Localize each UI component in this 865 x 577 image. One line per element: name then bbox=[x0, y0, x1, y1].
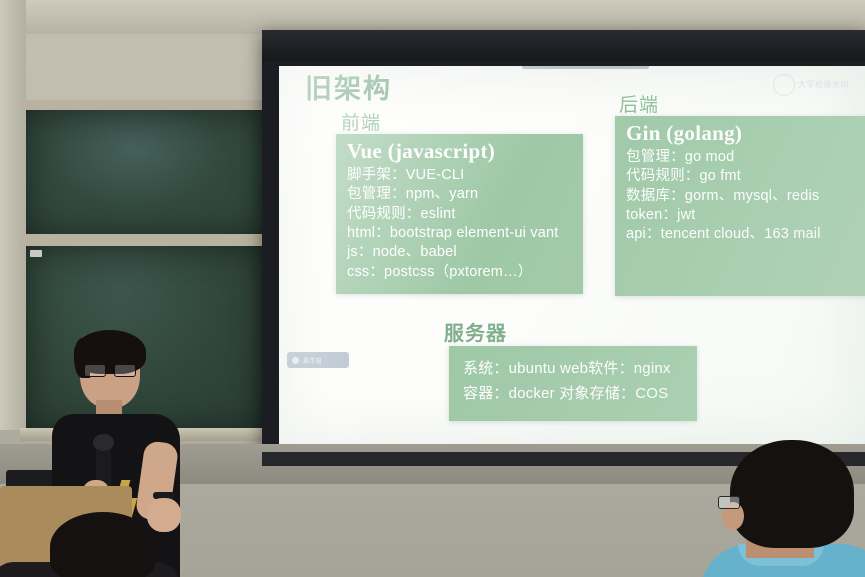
presenter-glasses bbox=[84, 364, 138, 377]
wall-top-strip bbox=[0, 0, 865, 34]
server-line: 容器：docker 对象存储：COS bbox=[449, 380, 697, 405]
frontend-box: Vue (javascript) 脚手架：VUE-CLI 包管理：npm、yar… bbox=[336, 134, 583, 294]
frontend-line: css：postcss（pxtorem…） bbox=[336, 263, 583, 282]
projector-screen-top-bar bbox=[262, 30, 865, 61]
audience-left-hair bbox=[50, 512, 156, 577]
audience-right-glasses bbox=[718, 496, 740, 509]
university-seal-icon bbox=[773, 74, 795, 96]
frontend-line: js：node、babel bbox=[336, 243, 583, 262]
frontend-line: 包管理：npm、yarn bbox=[336, 185, 583, 204]
glasses-bridge bbox=[106, 369, 114, 371]
floating-widget-label: 悬浮窗 bbox=[303, 356, 322, 365]
server-line: 系统：ubuntu web软件：nginx bbox=[449, 355, 697, 380]
presenter-hand-left bbox=[147, 498, 181, 532]
frontend-line: html：bootstrap element-ui vant bbox=[336, 224, 583, 243]
floating-widget[interactable]: 悬浮窗 bbox=[287, 352, 349, 368]
section-label-server: 服务器 bbox=[444, 317, 507, 346]
frontend-line: 代码规则：eslint bbox=[336, 205, 583, 224]
audience-member-left bbox=[0, 500, 150, 577]
audience-member-right bbox=[712, 440, 865, 577]
blackboard-frame-top bbox=[20, 100, 272, 110]
university-watermark: 大学校徽水印 bbox=[773, 70, 859, 100]
backend-line: token：jwt bbox=[615, 206, 865, 225]
backend-line: 代码规则：go fmt bbox=[615, 167, 865, 186]
glasses-lens-left bbox=[84, 364, 106, 377]
widget-dot-icon bbox=[292, 357, 299, 364]
audience-right-hair bbox=[730, 440, 854, 548]
wall-left-pillar bbox=[0, 0, 26, 430]
slide-title: 旧架构 bbox=[305, 76, 392, 103]
frontend-box-title: Vue (javascript) bbox=[336, 134, 583, 166]
blackboard-panel-upper-left bbox=[26, 110, 266, 238]
classroom-scene: 旧架构 前端 后端 Vue (javascript) 脚手架：VUE-CLI 包… bbox=[0, 0, 865, 577]
microphone-head-icon bbox=[93, 434, 114, 451]
server-box: 系统：ubuntu web软件：nginx 容器：docker 对象存储：COS bbox=[449, 346, 697, 421]
glasses-lens-right bbox=[114, 364, 136, 377]
section-label-backend: 后端 bbox=[619, 90, 659, 117]
backend-box: Gin (golang) 包管理：go mod 代码规则：go fmt 数据库：… bbox=[615, 116, 865, 296]
backend-line: 数据库：gorm、mysql、redis bbox=[615, 187, 865, 206]
chalk-piece bbox=[30, 250, 42, 257]
backend-line: api：tencent cloud、163 mail bbox=[615, 225, 865, 244]
projected-slide: 旧架构 前端 后端 Vue (javascript) 脚手架：VUE-CLI 包… bbox=[279, 66, 865, 444]
watermark-label: 大学校徽水印 bbox=[798, 80, 849, 89]
backend-box-title: Gin (golang) bbox=[615, 116, 865, 148]
backend-line: 包管理：go mod bbox=[615, 148, 865, 167]
section-label-frontend: 前端 bbox=[341, 108, 381, 135]
frontend-line: 脚手架：VUE-CLI bbox=[336, 166, 583, 185]
screen-recording-toolbar[interactable]: 屏幕录制工具栏 开始录制 设置 bbox=[522, 66, 649, 69]
